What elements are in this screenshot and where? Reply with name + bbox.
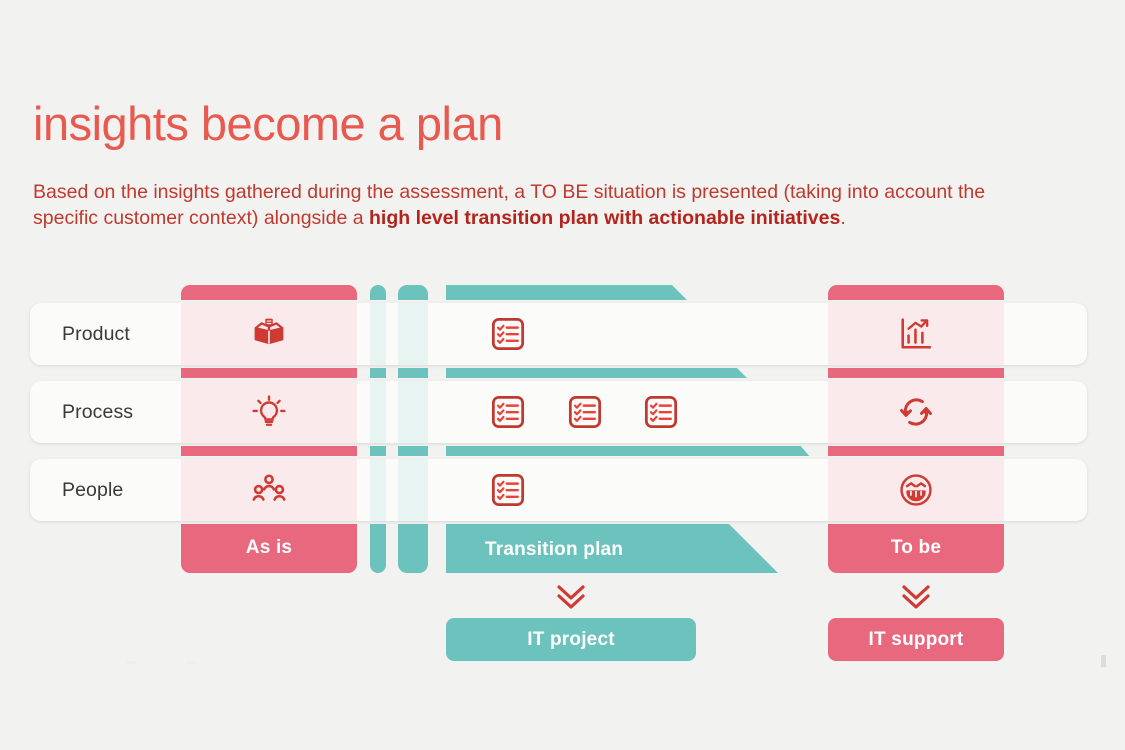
double-chevron-down-icon [899,583,933,613]
checklist-icon [491,317,525,351]
it-project-button[interactable]: IT project [446,618,696,661]
double-chevron-down-icon [554,583,588,613]
row-label-people: People [62,459,123,521]
it-support-button[interactable]: IT support [828,618,1004,661]
faint-mark-left [127,661,136,664]
smiley-face-icon [899,473,933,507]
row-label-process: Process [62,381,133,443]
faint-mark-center [187,661,196,664]
people-group-icon [252,473,286,507]
bar-chart-up-icon [899,317,933,351]
teal-cell-1 [370,381,386,443]
it-project-label: IT project [527,629,615,651]
teal-cell-1 [370,459,386,521]
refresh-cycle-icon [899,395,933,429]
transition-diagram: Product Process People As is Transition … [0,0,1125,750]
checklist-icon [644,395,678,429]
teal-cell-2 [398,303,428,365]
teal-cell-2 [398,459,428,521]
teal-cell-2 [398,381,428,443]
open-box-icon [252,317,286,351]
it-support-label: IT support [869,629,964,651]
transition-plan-label: Transition plan [446,539,696,561]
faint-mark-right [1101,655,1106,667]
checklist-icon [491,395,525,429]
checklist-icon [568,395,602,429]
row-label-product: Product [62,303,130,365]
checklist-icon [491,473,525,507]
teal-cell-1 [370,303,386,365]
lightbulb-icon [252,395,286,429]
